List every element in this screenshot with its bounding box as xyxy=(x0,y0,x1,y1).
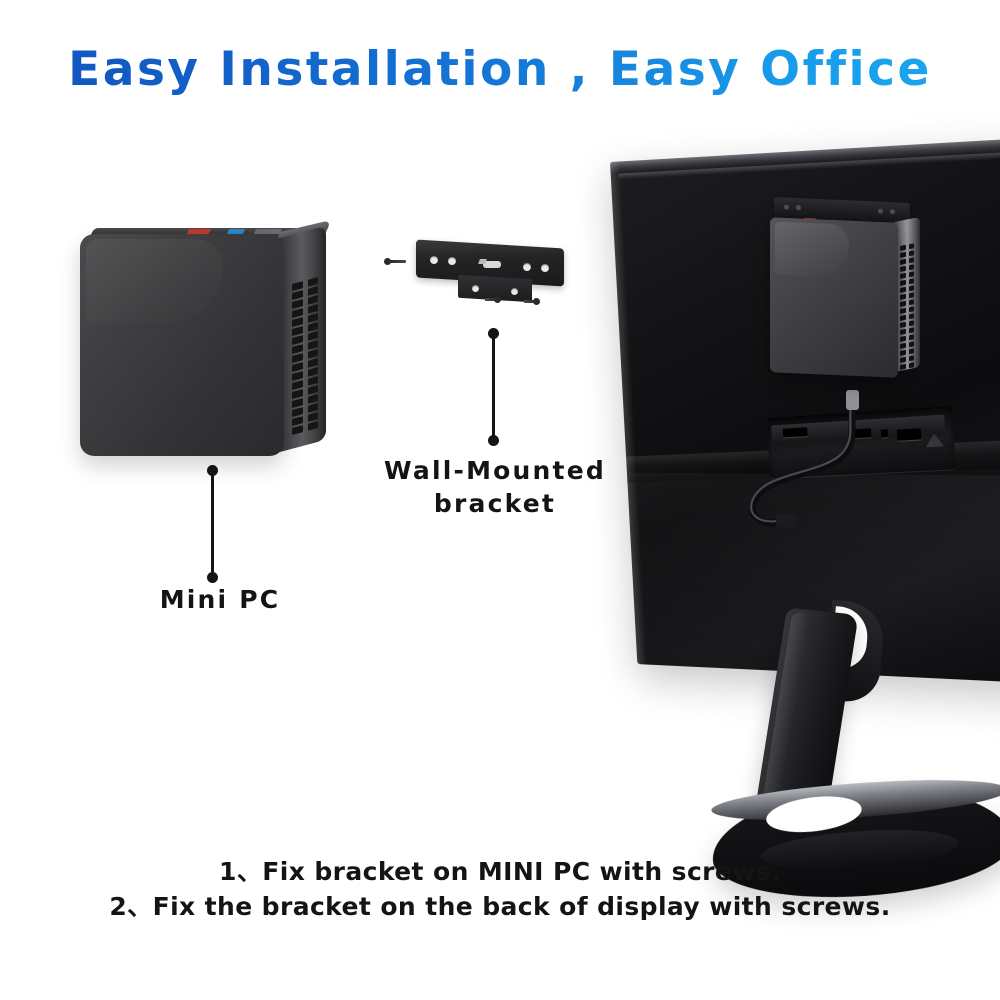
mini-pc-product-image xyxy=(80,228,342,466)
vent-hole xyxy=(909,334,915,340)
vent-hole xyxy=(900,301,906,307)
mini-pc-front-face xyxy=(80,234,284,456)
bracket-hole xyxy=(448,257,456,265)
mounted-pc-vent-grid xyxy=(900,243,914,354)
bracket-hole xyxy=(430,256,438,264)
vent-hole xyxy=(900,343,906,349)
vent-hole xyxy=(900,308,906,314)
vent-hole xyxy=(909,341,915,347)
vent-hole xyxy=(900,245,906,251)
vent-hole xyxy=(900,315,906,321)
vent-hole xyxy=(900,273,906,279)
vent-hole xyxy=(909,355,915,361)
callout-mini-pc: Mini PC xyxy=(60,584,380,617)
bracket-screw xyxy=(485,296,501,303)
wall-mount-bracket-image xyxy=(384,244,574,314)
vent-hole xyxy=(909,285,915,291)
bracket-hole xyxy=(784,204,789,209)
mounted-pc-front-face xyxy=(770,217,898,378)
bracket-hole xyxy=(878,209,883,214)
vent-hole xyxy=(900,336,906,342)
vent-hole xyxy=(900,280,906,286)
leader-line-mini-pc xyxy=(211,470,214,578)
monitor-scene xyxy=(592,140,1000,860)
bracket-tab-hole xyxy=(472,285,479,292)
vent-hole xyxy=(909,327,915,333)
bracket-screw xyxy=(524,298,540,305)
vent-hole xyxy=(900,252,906,258)
vent-hole xyxy=(909,348,915,354)
instruction-step-2: 2、Fix the bracket on the back of display… xyxy=(0,890,1000,925)
mini-pc-vent-grid xyxy=(292,277,318,424)
vent-hole xyxy=(909,313,915,319)
screw-shaft xyxy=(389,260,406,263)
bracket-hole xyxy=(523,263,531,271)
vent-hole xyxy=(909,362,915,368)
vent-hole xyxy=(909,320,915,326)
vent-hole xyxy=(900,329,906,335)
screw-shaft xyxy=(524,300,536,303)
connection-cable xyxy=(702,390,902,530)
vent-hole xyxy=(909,292,915,298)
vent-hole xyxy=(900,287,906,293)
vent-hole xyxy=(900,357,906,363)
page-title: Easy Installation , Easy Office xyxy=(0,42,1000,97)
stand-base-rim xyxy=(710,773,1000,828)
instruction-step-1: 1、Fix bracket on MINI PC with screws. xyxy=(0,855,1000,890)
monitor-port-bracket-corner xyxy=(925,433,944,447)
vent-hole xyxy=(909,250,915,256)
vent-hole xyxy=(900,364,906,370)
vent-hole xyxy=(900,266,906,272)
vent-hole xyxy=(909,264,915,270)
screw-shaft xyxy=(485,298,497,301)
vent-hole xyxy=(900,259,906,265)
bracket-tab-hole xyxy=(511,288,518,295)
vent-hole xyxy=(900,350,906,356)
vent-hole xyxy=(900,322,906,328)
installation-instructions: 1、Fix bracket on MINI PC with screws. 2、… xyxy=(0,855,1000,924)
infographic-canvas: Easy Installation , Easy Office Mini PC xyxy=(0,0,1000,1000)
vent-hole xyxy=(909,299,915,305)
mounted-mini-pc xyxy=(768,200,924,380)
vent-hole xyxy=(909,271,915,277)
bracket-screw xyxy=(384,258,406,265)
vent-hole xyxy=(909,243,915,249)
vent-hole xyxy=(909,306,915,312)
bracket-hole xyxy=(796,205,801,210)
vent-hole xyxy=(909,278,915,284)
leader-line-bracket xyxy=(492,333,495,441)
bracket-hole xyxy=(890,209,895,214)
vent-hole xyxy=(909,257,915,263)
vent-hole xyxy=(900,294,906,300)
bracket-hole xyxy=(541,264,549,272)
